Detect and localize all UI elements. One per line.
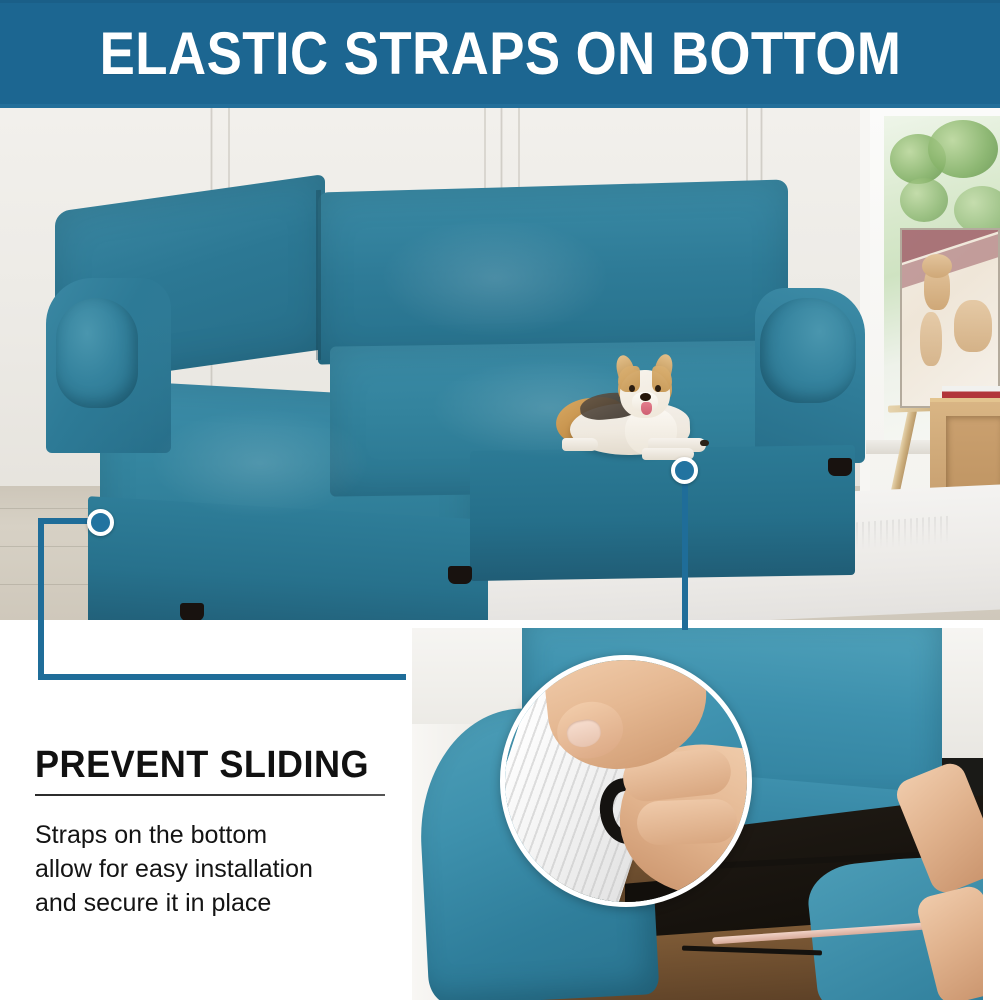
sofa-foot bbox=[448, 566, 472, 584]
table-books bbox=[942, 386, 1000, 398]
dog-eye bbox=[655, 385, 661, 392]
dog-nose bbox=[640, 393, 651, 401]
dog-tongue bbox=[641, 402, 652, 415]
product-infographic: ELASTIC STRAPS ON BOTTOM bbox=[0, 0, 1000, 1000]
sofa-foot bbox=[180, 603, 204, 620]
feature-heading: PREVENT SLIDING bbox=[35, 744, 372, 786]
callout-dot-right[interactable] bbox=[671, 457, 698, 484]
sofa-arm-left-roll bbox=[56, 298, 138, 408]
page-title: ELASTIC STRAPS ON BOTTOM bbox=[99, 24, 901, 84]
dog-painting-canvas bbox=[900, 228, 1000, 408]
dog-paw bbox=[700, 440, 709, 446]
banner-top-edge bbox=[0, 0, 1000, 3]
closeup-finger bbox=[636, 798, 737, 845]
sofa-foot bbox=[828, 458, 852, 476]
sofa-backrest-right bbox=[318, 179, 788, 364]
header-banner: ELASTIC STRAPS ON BOTTOM bbox=[0, 0, 1000, 108]
feature-body-line-1: Straps on the bottom bbox=[35, 818, 390, 852]
callout-right-segment-vertical bbox=[682, 470, 688, 630]
sofa-backrest-seam bbox=[316, 190, 321, 360]
feature-body-line-2: allow for easy installation bbox=[35, 852, 390, 886]
callout-left-segment-vertical bbox=[38, 518, 44, 680]
dog-eye bbox=[629, 385, 635, 392]
sofa-main-base bbox=[470, 445, 855, 581]
sofa-arm-right-roll bbox=[760, 298, 856, 403]
strap-closeup-magnifier bbox=[500, 655, 752, 907]
feature-body-line-3: and secure it in place bbox=[35, 886, 390, 920]
feature-body: Straps on the bottom allow for easy inst… bbox=[35, 818, 390, 920]
callout-dot-left[interactable] bbox=[87, 509, 114, 536]
feature-text-block: PREVENT SLIDING Straps on the bottom all… bbox=[35, 744, 390, 920]
hero-photo bbox=[0, 108, 1000, 620]
dog-rear-leg bbox=[562, 438, 598, 451]
callout-left-segment-horizontal-bottom bbox=[38, 674, 406, 680]
heading-divider bbox=[35, 794, 385, 796]
